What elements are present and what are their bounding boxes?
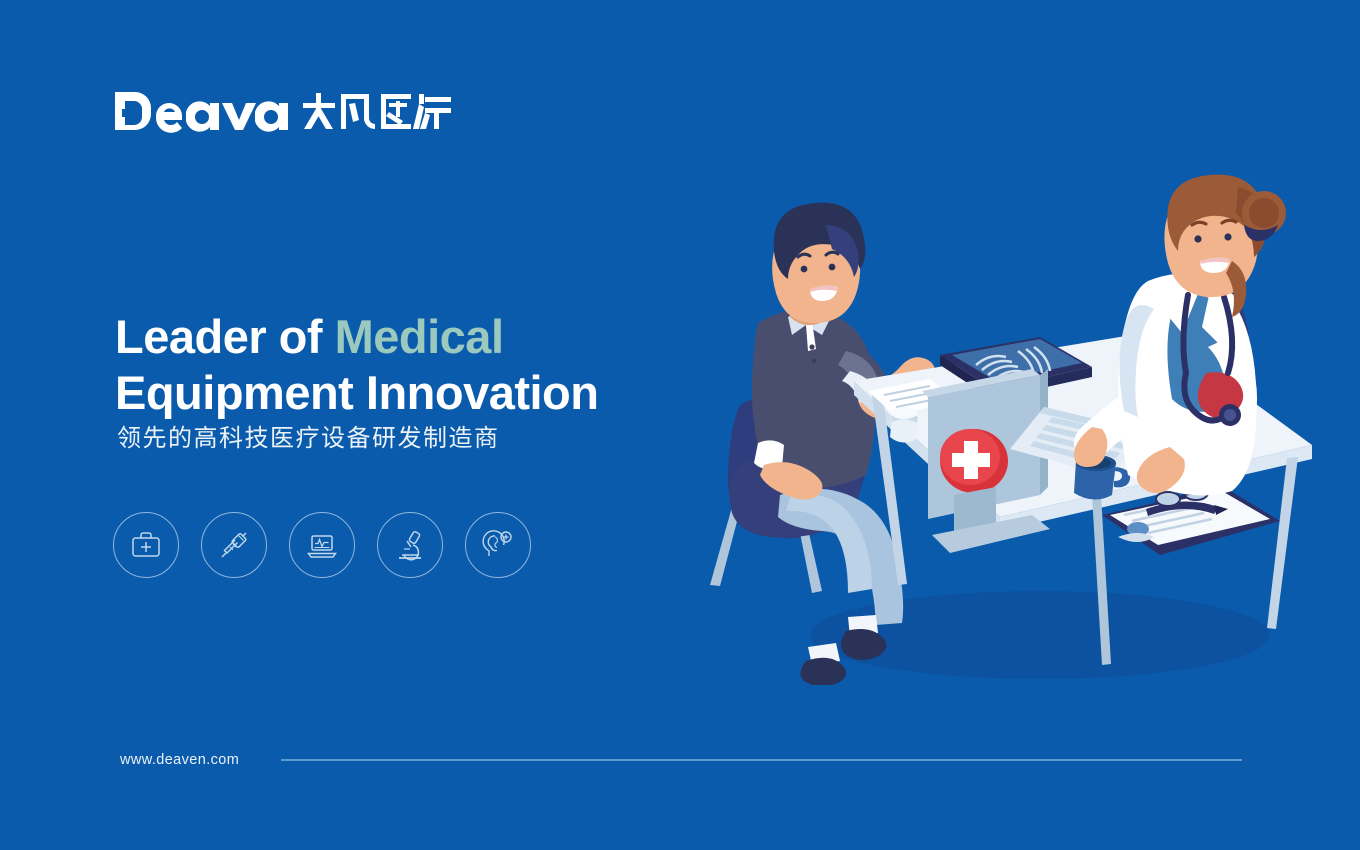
logo-wordmark-deavan [113,88,291,134]
syringe-icon[interactable] [201,512,267,578]
page-title: Leader of Medical Equipment Innovation [115,309,598,420]
subtitle-chinese: 领先的高科技医疗设备研发制造商 [117,418,500,453]
website-url[interactable]: www.deaven.com [120,752,239,768]
first-aid-kit-icon[interactable] [113,512,179,578]
logo-chinese-name [301,90,453,134]
headline-plain: Leader of [115,310,335,363]
feature-icon-row [113,512,531,578]
headline-line-2: Equipment Innovation [115,365,598,420]
microscope-icon[interactable] [377,512,443,578]
brain-head-plus-icon[interactable] [465,512,531,578]
headline-accent: Medical [335,310,504,363]
footer-divider [281,759,1242,761]
doctor-consulting-patient-isometric [640,165,1320,685]
brand-logo [113,88,453,134]
headline-line-1: Leader of Medical [115,309,598,364]
footer: www.deaven.com [120,752,1242,768]
slide-canvas: Leader of Medical Equipment Innovation 领… [0,0,1360,850]
laptop-ecg-icon[interactable] [289,512,355,578]
